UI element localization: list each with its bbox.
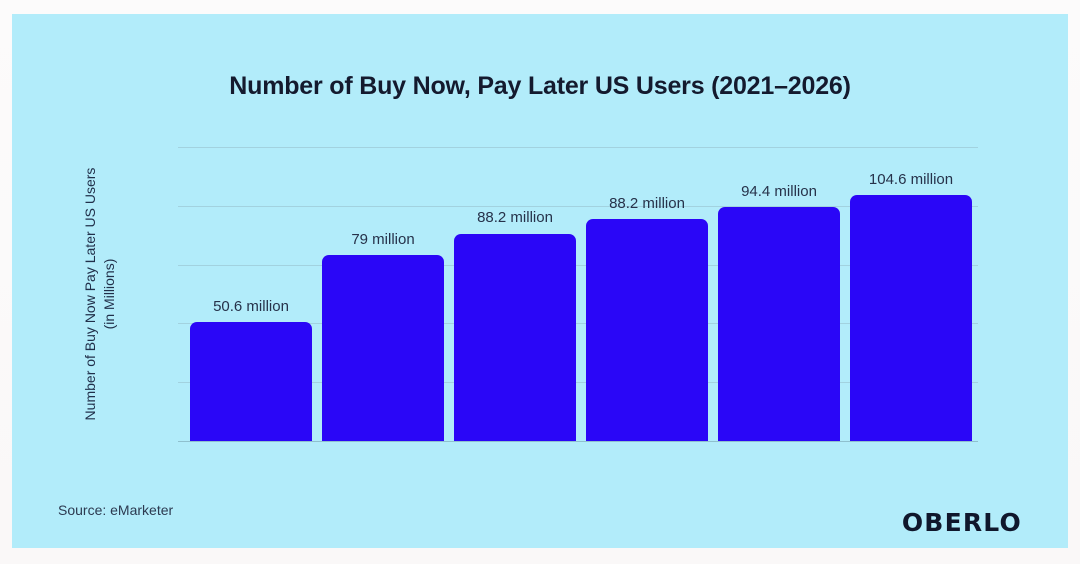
source-note: Source: eMarketer <box>58 502 173 518</box>
plot-area: Number of Buy Now Pay Later US Users (in… <box>178 147 978 441</box>
oberlo-logo: OBERLO <box>902 508 1022 537</box>
bar-2021[interactable] <box>190 322 312 441</box>
bar-2025[interactable] <box>718 207 840 441</box>
bar-value-label-2021: 50.6 million <box>213 298 289 315</box>
chart-card: Number of Buy Now, Pay Later US Users (2… <box>12 14 1068 548</box>
bar-value-label-2026: 104.6 million <box>869 171 953 188</box>
bar-value-label-2025: 94.4 million <box>741 183 817 200</box>
bar-value-label-2023: 88.2 million <box>477 209 553 226</box>
gridline-zero <box>178 441 978 442</box>
bar-2026[interactable] <box>850 195 972 441</box>
bar-value-label-2022: 79 million <box>351 231 414 248</box>
bar-2022[interactable] <box>322 255 444 441</box>
chart-title: Number of Buy Now, Pay Later US Users (2… <box>12 72 1068 101</box>
bar-series: 50.6 million 2021 79 million 2022 88.2 m… <box>178 147 978 441</box>
bar-2023[interactable] <box>454 234 576 442</box>
bar-2024[interactable] <box>586 219 708 441</box>
screenshot-root: Number of Buy Now, Pay Later US Users (2… <box>0 0 1080 564</box>
y-axis-title: Number of Buy Now Pay Later US Users (in… <box>81 129 119 459</box>
bar-value-label-2024: 88.2 million <box>609 195 685 212</box>
